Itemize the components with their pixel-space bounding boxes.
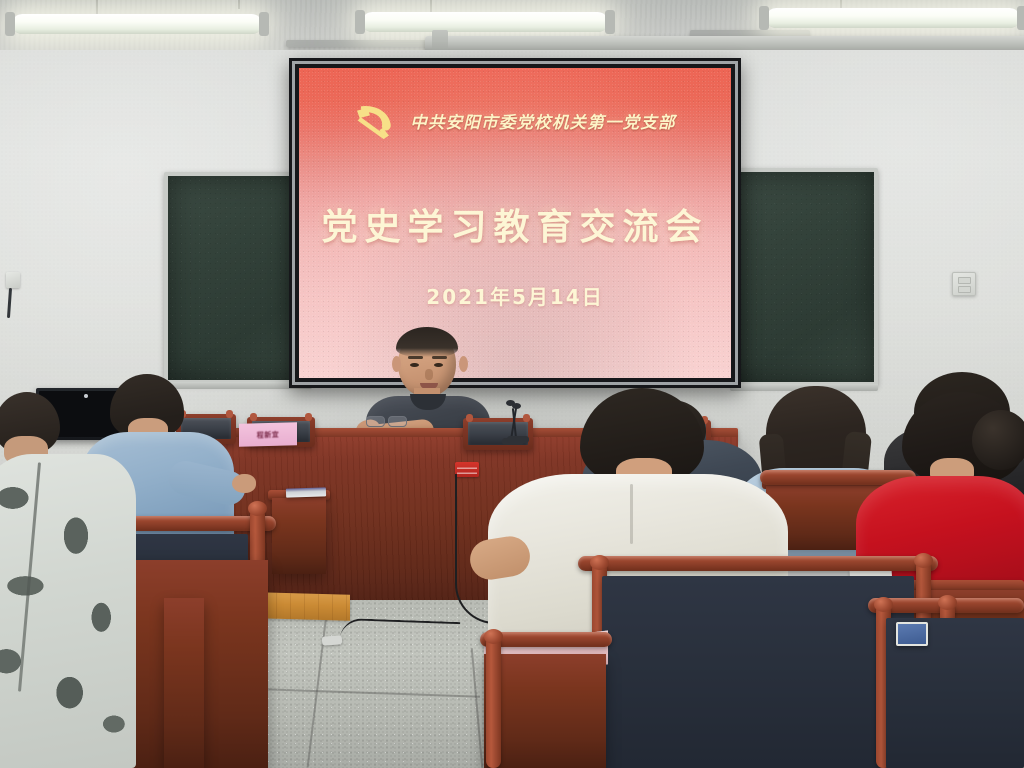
slide-organization-line: 中共安阳市委党校机关第一党支部 [410,109,676,133]
presentation-slide: 中共安阳市委党校机关第一党支部 党史学习教育交流会 2021年5月14日 [299,68,731,378]
classroom-photo-scene: Eagle [0,0,1024,768]
fluorescent-tube-right-icon [766,8,1020,28]
attendee-camo-jacket [0,392,150,768]
name-card-text: 程新宜 [257,429,280,440]
chair-rail-front-center [578,556,938,571]
ceiling-beam-left [286,40,434,47]
desk-leg-left [164,598,204,768]
wall-outlet[interactable] [6,272,20,288]
smartphone[interactable] [896,622,928,646]
light-hanger-center [430,0,432,12]
speaker-eye-right [434,363,443,367]
eyeglasses-icon [366,416,410,426]
slide-main-title: 党史学习教育交流会 [299,198,731,250]
fluorescent-tube-left-icon [12,14,262,34]
booklet-stack[interactable] [286,487,326,497]
desk-front-center [484,654,606,768]
cable-on-floor [340,618,461,644]
chair-post-front-left [486,636,501,768]
speaker-ear-right [459,356,468,372]
slide-header: 中共安阳市委党校机关第一党支部 [299,102,731,140]
blackboard-right [730,168,878,386]
projection-screen: 中共安阳市委党校机关第一党支部 党史学习教育交流会 2021年5月14日 [289,58,741,388]
speaker-brow-right [432,356,447,359]
fluorescent-tube-center-icon [362,12,608,32]
speaker-nose [425,369,433,380]
light-hanger-right [840,0,842,8]
speaker-hair [396,327,458,357]
speaker-eye-left [410,363,419,367]
speaker-brow-left [408,356,423,359]
podium-name-card: 程新宜 [239,422,297,446]
attendee-white-shoulder-seam [630,484,633,544]
desk-left-mid [272,498,326,574]
light-switch-plate[interactable] [952,272,976,296]
light-hanger-left-2 [238,0,240,9]
light-hanger-left [96,0,98,14]
speaker-ear-left [392,356,401,372]
attendee-camo-body [0,454,136,768]
attendee-red-hair-bun [972,410,1024,470]
attendee-blue-hand [232,474,256,493]
slide-date: 2021年5月14日 [299,281,731,310]
cpc-hammer-sickle-emblem-icon [354,102,398,140]
cable-plug [322,635,343,645]
